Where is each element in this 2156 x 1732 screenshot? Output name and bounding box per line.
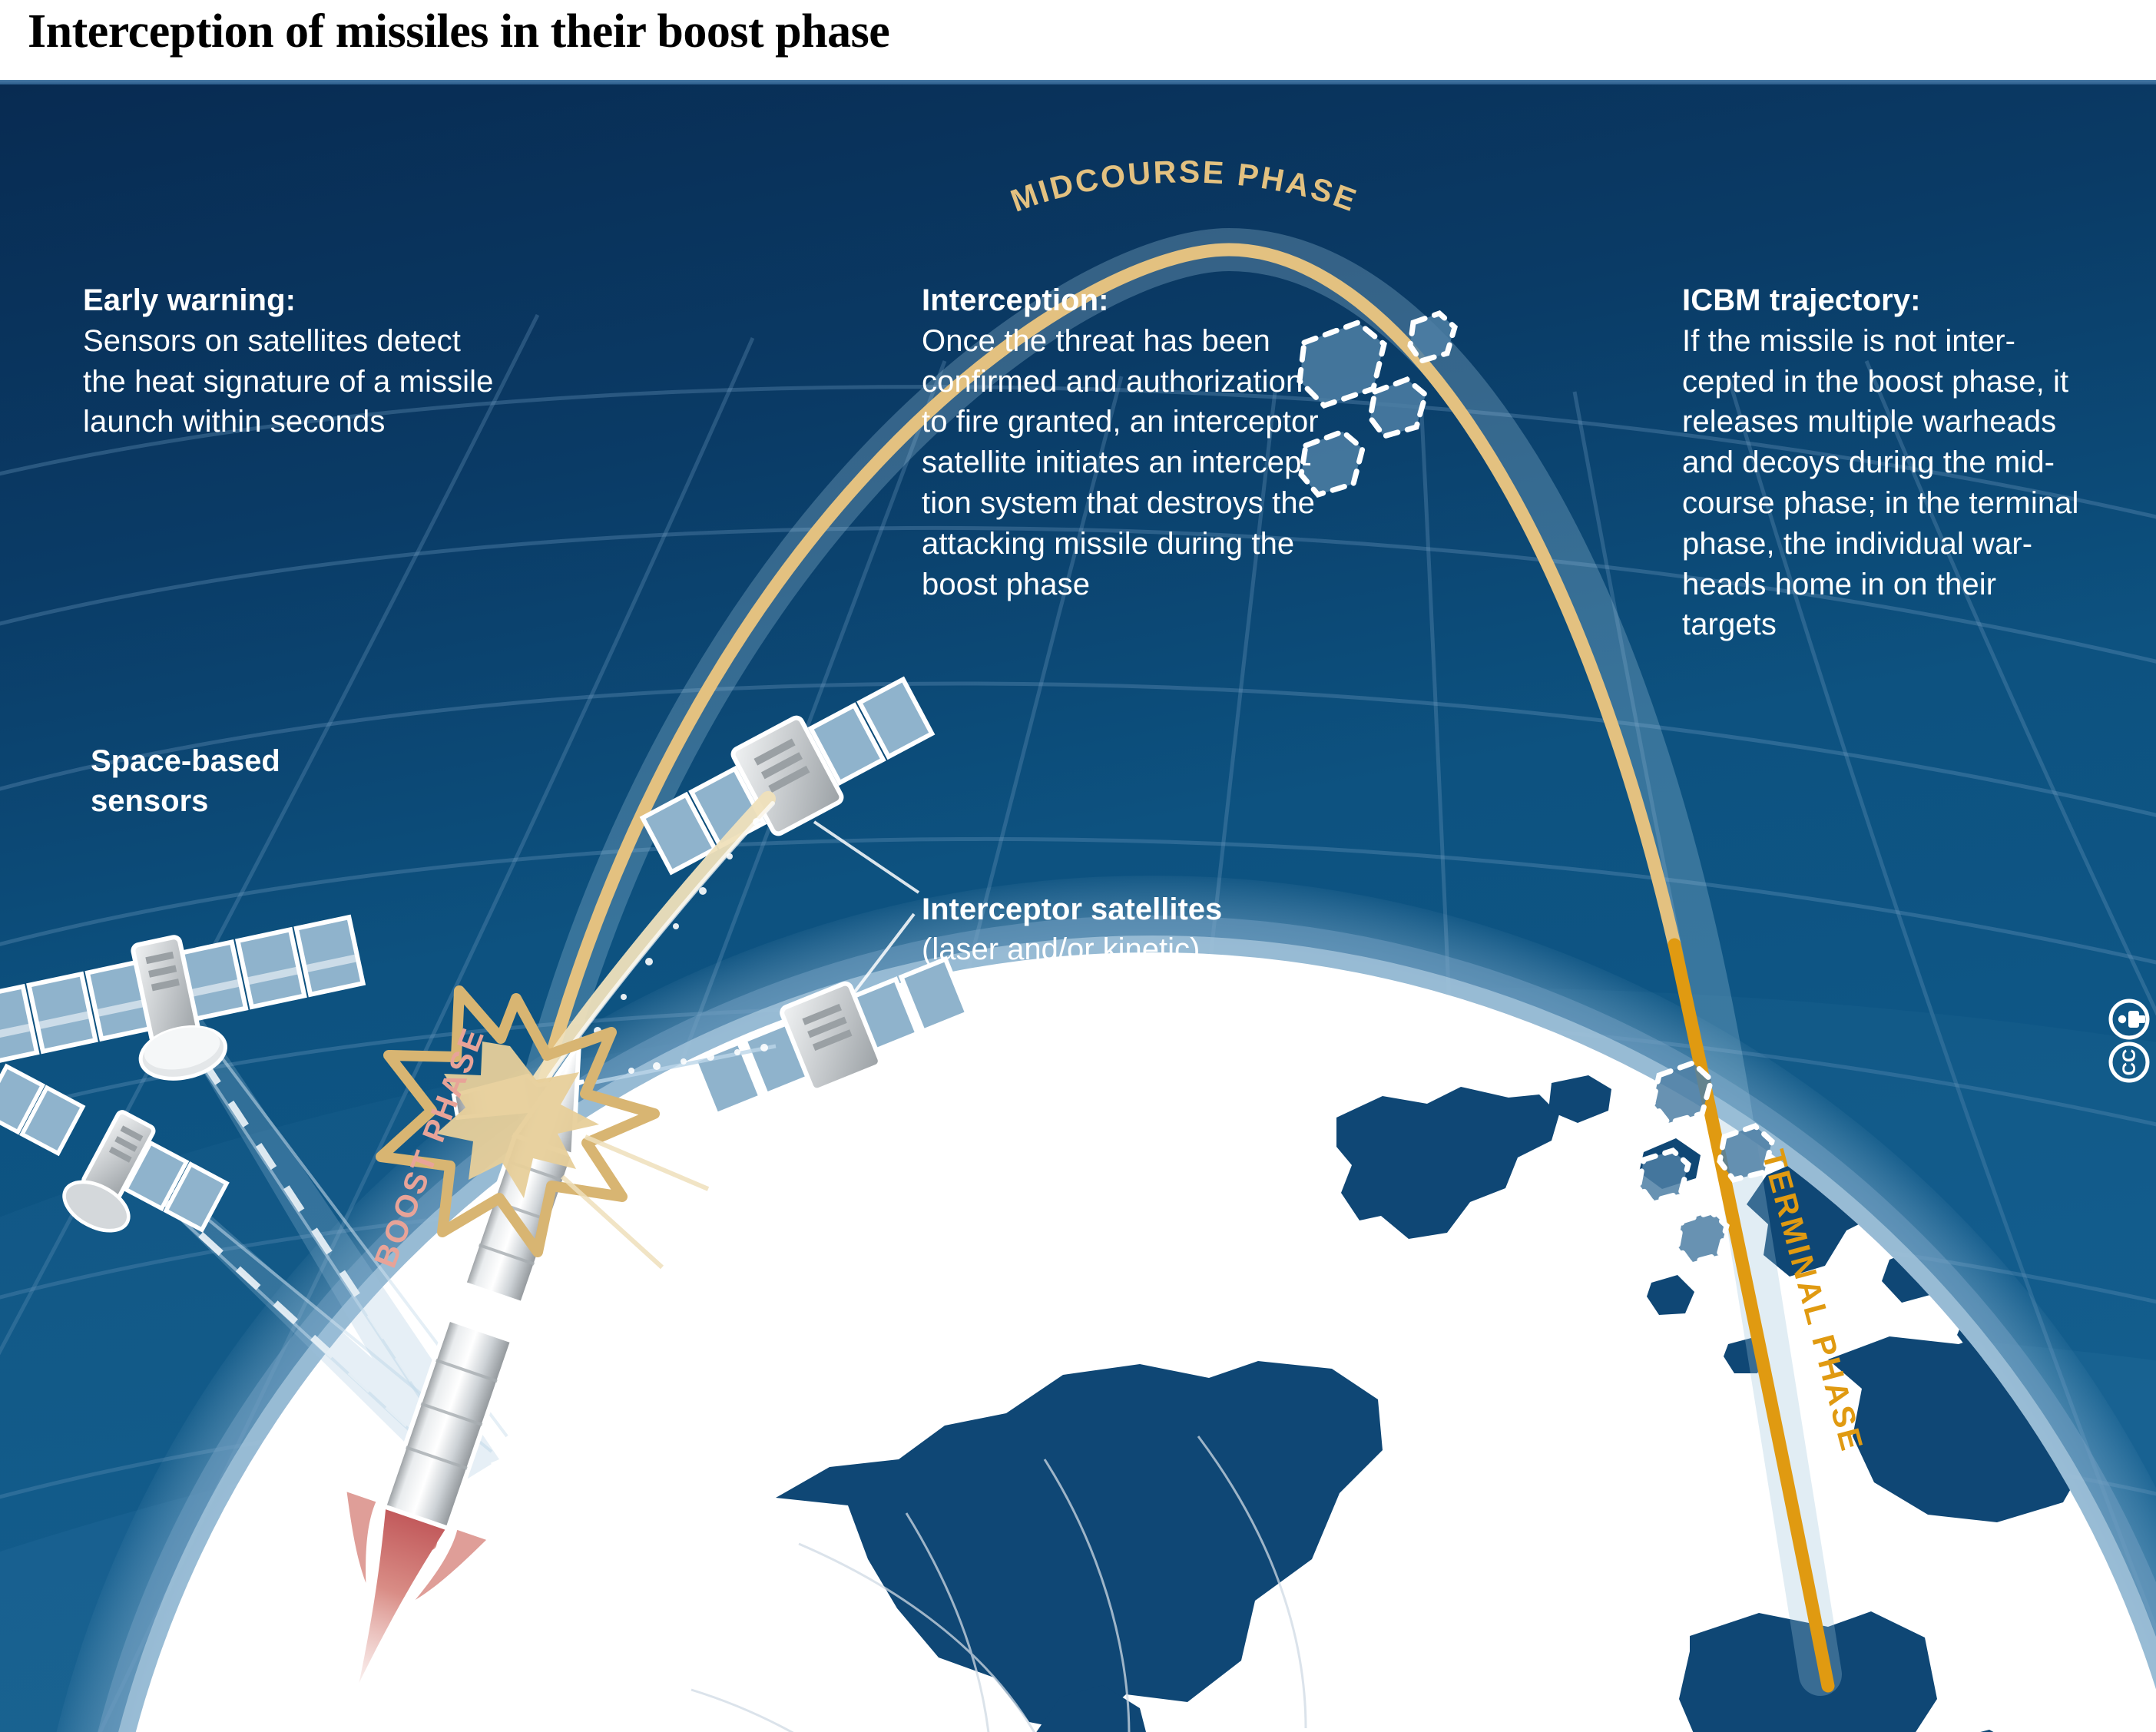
svg-text:CC: CC [2119,1049,2140,1076]
satellite-interceptor-kinetic [689,945,973,1128]
note-line: If the missile is not inter- [1682,321,2143,362]
satellite-sensor-2 [0,1054,233,1273]
creative-commons-icon: CC [2111,1044,2148,1081]
note-line: cepted in the boost phase, it [1682,362,2143,402]
note-line: to fire granted, an interceptor [922,402,1398,442]
caption-subtext: (laser and/or kinetic) [922,929,1383,969]
label-midcourse-phase: MIDCOURSE PHASE [946,157,1422,250]
note-line: heads home in on their [1682,565,2143,605]
note-early-warning: Early warning: Sensors on satellites det… [83,280,575,442]
credit-line: Stiftung Wissenschaft und Politik (SWP),… [2126,1712,2150,1732]
illustration-scene: Early warning: Sensors on satellites det… [0,84,2156,1732]
license-icons: CC [2108,998,2153,1085]
satellite-sensor-1 [0,901,375,1118]
midcourse-phase-text: MIDCOURSE PHASE [1006,154,1363,218]
note-line: Sensors on satellites detect [83,321,575,362]
note-line: launch within seconds [83,402,575,442]
note-heading: ICBM trajectory: [1682,280,2143,321]
note-line: boost phase [922,565,1398,605]
note-line: Once the threat has been [922,321,1398,362]
note-line: and decoys during the mid- [1682,442,2143,483]
infographic-page: Interception of missiles in their boost … [0,0,2156,1732]
note-line: tion system that destroys the [922,483,1398,524]
attribution-person-icon [2111,1001,2148,1038]
page-title: Interception of missiles in their boost … [28,5,889,59]
note-line: satellite initiates an intercep- [922,442,1398,483]
note-icbm-trajectory: ICBM trajectory: If the missile is not i… [1682,280,2143,645]
caption-space-based-sensors: Space-based sensors [91,741,444,821]
note-heading: Interception: [922,280,1398,321]
caption-interceptor-satellites: Interceptor satellites (laser and/or kin… [922,889,1383,969]
note-line: releases multiple warheads [1682,402,2143,442]
note-line: course phase; in the terminal [1682,483,2143,524]
caption-line: Space-based [91,741,444,781]
note-heading: Early warning: [83,280,575,321]
note-line: confirmed and authorization [922,362,1398,402]
caption-line: sensors [91,781,444,821]
caption-heading: Interceptor satellites [922,889,1383,929]
note-line: targets [1682,604,2143,645]
note-interception: Interception: Once the threat has been c… [922,280,1398,604]
svg-text:MIDCOURSE PHASE: MIDCOURSE PHASE [1006,154,1363,218]
title-band: Interception of missiles in their boost … [0,0,2156,80]
note-line: attacking missile during the [922,524,1398,565]
note-line: phase, the individual war- [1682,524,2143,565]
note-line: the heat signature of a missile [83,362,575,402]
cc-by-icon-group: CC [2108,998,2150,1085]
